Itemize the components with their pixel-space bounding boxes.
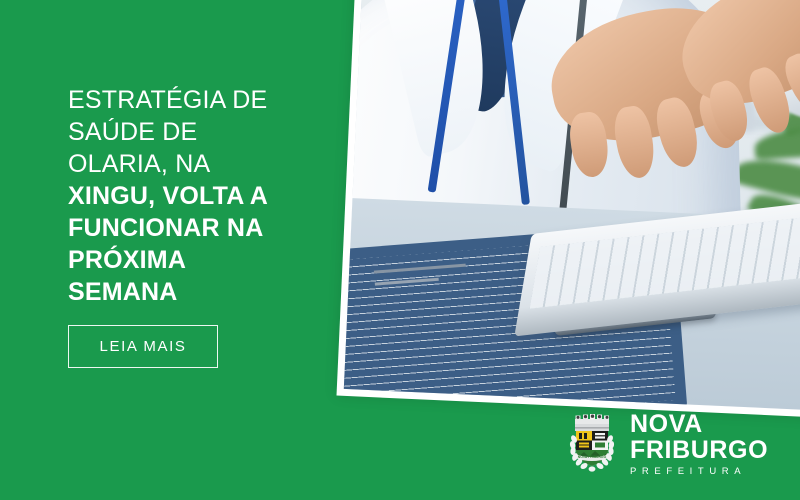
headline-line-7: SEMANA — [68, 278, 178, 306]
prefeitura-logo[interactable]: NOVA FRIBURGO — [566, 412, 768, 477]
photo-frame — [336, 0, 800, 419]
coat-of-arms-icon: NOVA FRIBURGO — [566, 413, 618, 475]
logo-line-3: PREFEITURA — [630, 467, 768, 477]
doctor-typing-photo — [344, 0, 800, 412]
headline-line-1: ESTRATÉGIA DE — [68, 86, 267, 114]
news-banner: ESTRATÉGIA DE SAÚDE DE OLARIA, NA XINGU,… — [0, 0, 800, 500]
logo-line-1: NOVA — [630, 412, 768, 437]
leia-mais-button[interactable]: LEIA MAIS — [68, 325, 218, 368]
logo-line-2: FRIBURGO — [630, 438, 768, 463]
headline: ESTRATÉGIA DE SAÚDE DE OLARIA, NA XINGU,… — [68, 84, 346, 308]
headline-line-4: XINGU, VOLTA A — [68, 182, 268, 210]
headline-line-3: OLARIA, NA — [68, 150, 210, 178]
paper-heading-line — [373, 264, 465, 274]
headline-line-5: FUNCIONAR NA — [68, 214, 263, 242]
headline-line-6: PRÓXIMA — [68, 246, 186, 274]
svg-text:NOVA FRIBURGO: NOVA FRIBURGO — [578, 455, 607, 459]
logo-wordmark: NOVA FRIBURGO PREFEITURA — [630, 412, 768, 477]
paper-heading-line-2 — [374, 277, 438, 285]
headline-line-2: SAÚDE DE — [68, 118, 197, 146]
